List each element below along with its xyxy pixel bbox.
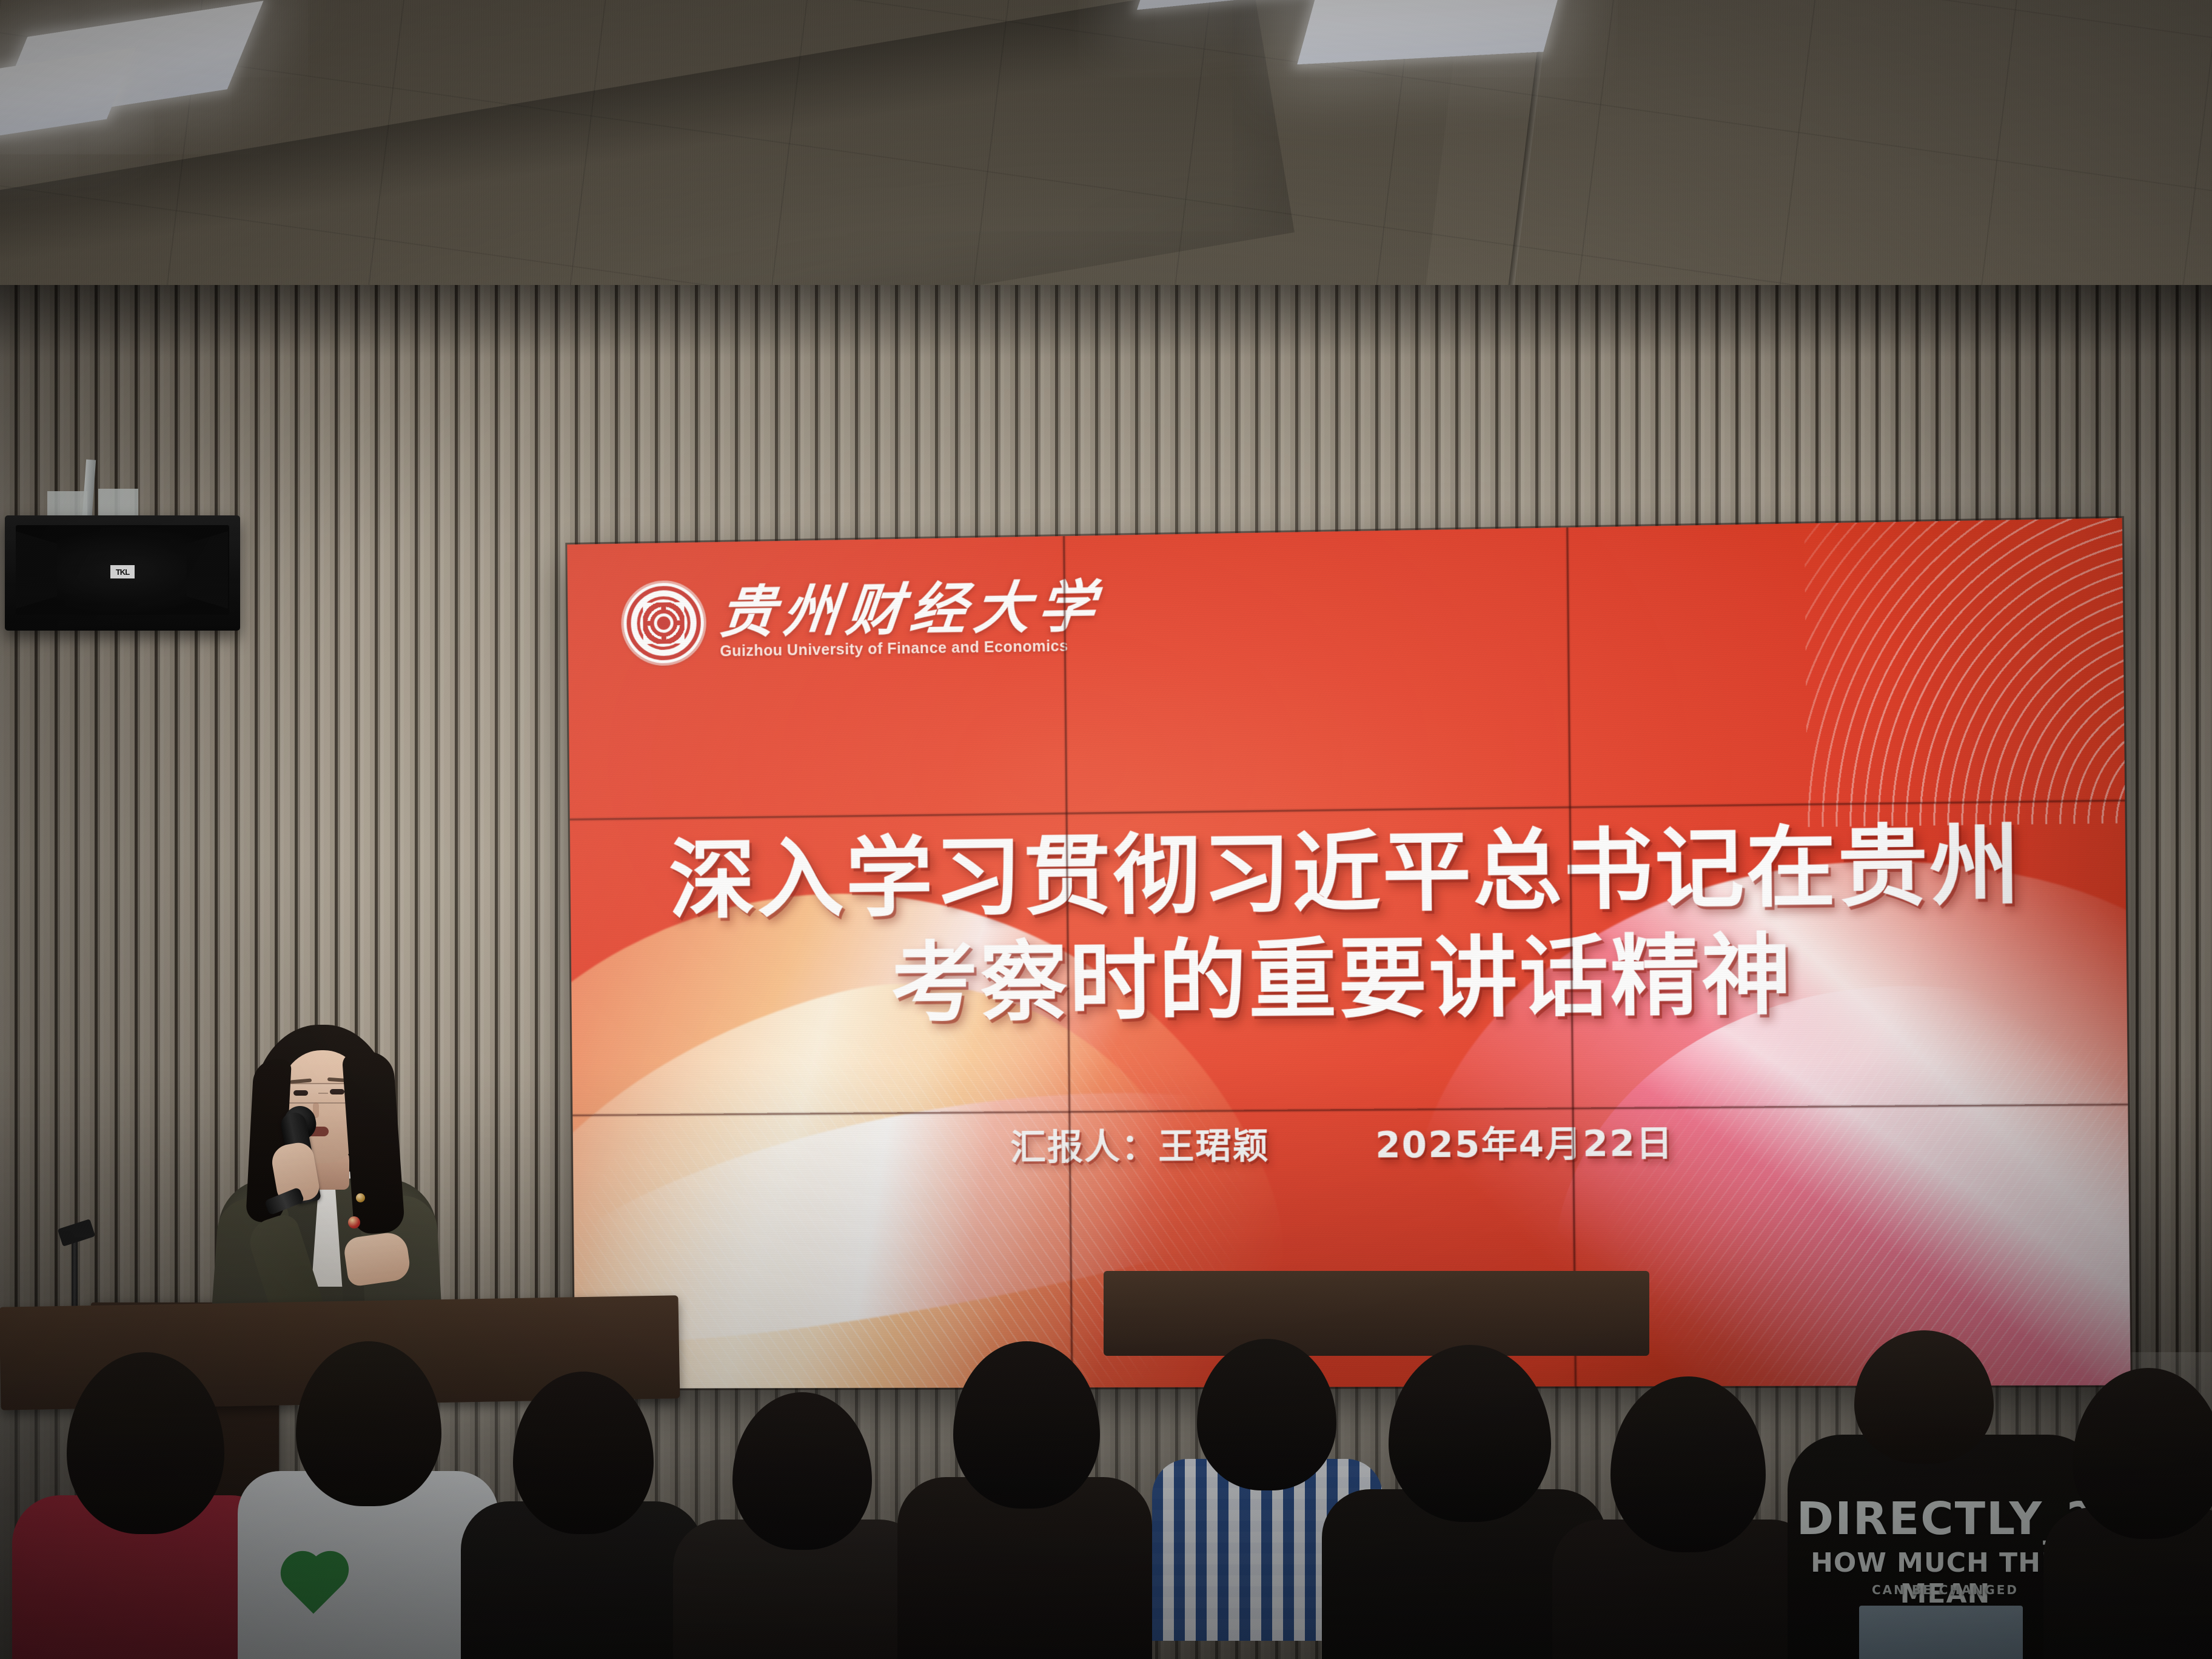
wall-loudspeaker: TKL xyxy=(5,515,240,631)
audience-member-dark-3 xyxy=(897,1344,1152,1659)
audience-member-dark-5 xyxy=(1552,1374,1819,1659)
audience-member-dark-2 xyxy=(673,1392,928,1659)
speaker-brand-badge: TKL xyxy=(110,565,135,578)
audience-head xyxy=(953,1341,1100,1509)
audience-member-dark-1 xyxy=(461,1368,703,1659)
jacket-print-panel xyxy=(1859,1606,2023,1659)
photo-scene: TKL 贵州财经大学 Guizhou Universi xyxy=(0,0,2212,1659)
audience-head xyxy=(732,1392,872,1550)
speaker-horn-right xyxy=(187,531,228,609)
audience-member-white-hoodie xyxy=(238,1344,498,1659)
audience-head xyxy=(1197,1339,1336,1490)
audience-head xyxy=(67,1352,224,1534)
audience-head xyxy=(1389,1345,1551,1522)
audience-head xyxy=(1610,1376,1766,1552)
audience-head xyxy=(1854,1330,1994,1464)
audience-head xyxy=(296,1341,441,1506)
audience-member-far-right xyxy=(2043,1368,2212,1659)
audience-group: DIRECTLY_? HOW MUCH THEY MEAN CAN BE CHA… xyxy=(0,1162,2212,1659)
speaker-horn-left xyxy=(16,531,57,609)
heart-graphic-icon xyxy=(286,1557,344,1614)
audience-head xyxy=(2073,1368,2212,1539)
audience-head xyxy=(513,1372,654,1534)
bench-row-center xyxy=(1104,1271,1649,1356)
